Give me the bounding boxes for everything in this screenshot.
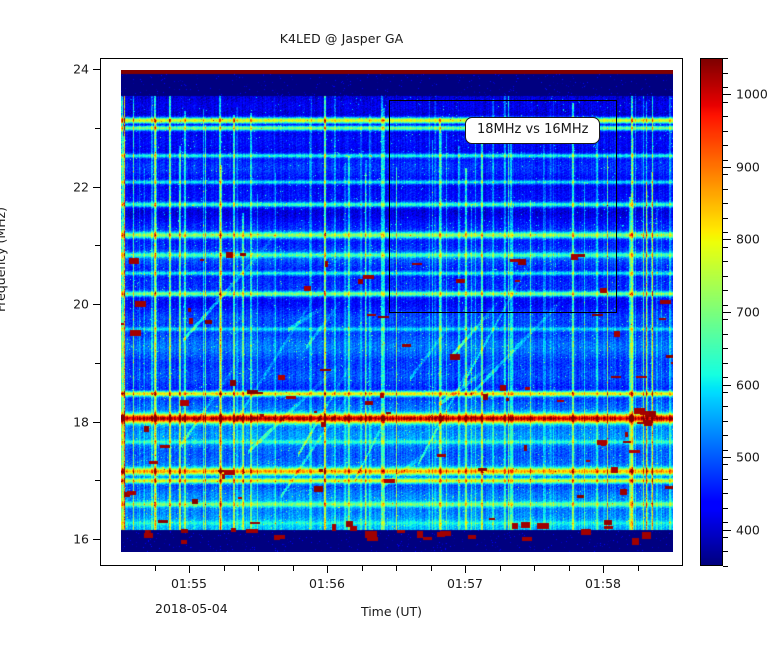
colorbar-tick-minor <box>723 435 728 436</box>
colorbar-tick-minor <box>723 261 728 262</box>
colorbar-tick-minor <box>723 537 728 538</box>
x-tick-minor <box>258 566 259 571</box>
colorbar-tick-minor <box>723 73 728 74</box>
y-tick-minor <box>95 128 100 129</box>
colorbar-tick-minor <box>723 421 728 422</box>
date-label: 2018-05-04 <box>155 601 228 616</box>
colorbar-tick-label: 600 <box>736 377 760 392</box>
y-tick-label: 16 <box>73 532 89 547</box>
colorbar-tick-minor <box>723 334 728 335</box>
colorbar-tick-minor <box>723 450 728 451</box>
y-tick-major <box>93 539 100 540</box>
colorbar-tick-label: 500 <box>736 450 760 465</box>
figure-canvas: K4LED @ Jasper GA 2422201816 01:5501:560… <box>0 0 783 656</box>
colorbar-tick-minor <box>723 377 728 378</box>
y-tick-label: 20 <box>73 297 89 312</box>
y-tick-major <box>93 422 100 423</box>
y-tick-label: 24 <box>73 62 89 77</box>
colorbar-tick-minor <box>723 319 728 320</box>
colorbar-tick-minor <box>723 479 728 480</box>
colorbar-tick-minor <box>723 464 728 465</box>
y-tick-label: 22 <box>73 179 89 194</box>
y-tick-major <box>93 187 100 188</box>
colorbar-tick-minor <box>723 218 728 219</box>
x-tick-major <box>327 566 328 573</box>
colorbar-tick-minor <box>723 247 728 248</box>
x-tick-minor <box>155 566 156 571</box>
colorbar-tick-label: 1000 <box>736 87 768 102</box>
colorbar-gradient <box>701 59 722 565</box>
colorbar-tick-label: 800 <box>736 232 760 247</box>
x-tick-minor <box>431 566 432 571</box>
x-tick-major <box>189 566 190 573</box>
colorbar-tick-major <box>723 457 731 458</box>
colorbar-tick-minor <box>723 551 728 552</box>
colorbar-tick-major <box>723 530 731 531</box>
annotation-label: 18MHz vs 16MHz <box>465 117 600 144</box>
colorbar-tick-minor <box>723 508 728 509</box>
y-axis-label: Frequency (MHz) <box>0 207 8 312</box>
x-tick-major <box>465 566 466 573</box>
colorbar-tick-major <box>723 385 731 386</box>
colorbar-tick-label: 400 <box>736 522 760 537</box>
colorbar-tick-minor <box>723 58 728 59</box>
y-tick-label: 18 <box>73 414 89 429</box>
x-tick-label: 01:56 <box>309 576 345 591</box>
colorbar-tick-minor <box>723 174 728 175</box>
y-tick-minor <box>95 245 100 246</box>
x-tick-label: 01:55 <box>171 576 207 591</box>
y-tick-minor <box>95 480 100 481</box>
x-tick-label: 01:58 <box>585 576 621 591</box>
colorbar-tick-minor <box>723 348 728 349</box>
colorbar-tick-minor <box>723 290 728 291</box>
colorbar-tick-minor <box>723 566 728 567</box>
x-tick-minor <box>638 566 639 571</box>
y-tick-major <box>93 69 100 70</box>
colorbar-tick-minor <box>723 131 728 132</box>
colorbar-tick-minor <box>723 276 728 277</box>
colorbar-tick-minor <box>723 160 728 161</box>
x-tick-minor <box>534 566 535 571</box>
colorbar-tick-major <box>723 239 731 240</box>
colorbar-tick-minor <box>723 189 728 190</box>
colorbar-tick-label: 900 <box>736 159 760 174</box>
y-tick-minor <box>95 363 100 364</box>
colorbar-tick-major <box>723 167 731 168</box>
colorbar-tick-minor <box>723 203 728 204</box>
colorbar-tick-label: 700 <box>736 305 760 320</box>
chart-title: K4LED @ Jasper GA <box>0 31 683 46</box>
x-tick-label: 01:57 <box>447 576 483 591</box>
x-tick-minor <box>293 566 294 571</box>
colorbar-tick-minor <box>723 87 728 88</box>
colorbar-tick-minor <box>723 145 728 146</box>
colorbar-tick-major <box>723 94 731 95</box>
x-tick-minor <box>362 566 363 571</box>
colorbar <box>700 58 723 566</box>
colorbar-tick-minor <box>723 493 728 494</box>
x-tick-minor <box>396 566 397 571</box>
y-tick-major <box>93 304 100 305</box>
colorbar-tick-minor <box>723 305 728 306</box>
x-tick-minor <box>569 566 570 571</box>
x-tick-major <box>603 566 604 573</box>
colorbar-tick-minor <box>723 116 728 117</box>
colorbar-tick-minor <box>723 522 728 523</box>
x-tick-minor <box>500 566 501 571</box>
colorbar-tick-minor <box>723 102 728 103</box>
colorbar-tick-minor <box>723 232 728 233</box>
colorbar-tick-major <box>723 312 731 313</box>
colorbar-tick-minor <box>723 406 728 407</box>
colorbar-tick-minor <box>723 363 728 364</box>
x-tick-minor <box>224 566 225 571</box>
colorbar-tick-minor <box>723 392 728 393</box>
